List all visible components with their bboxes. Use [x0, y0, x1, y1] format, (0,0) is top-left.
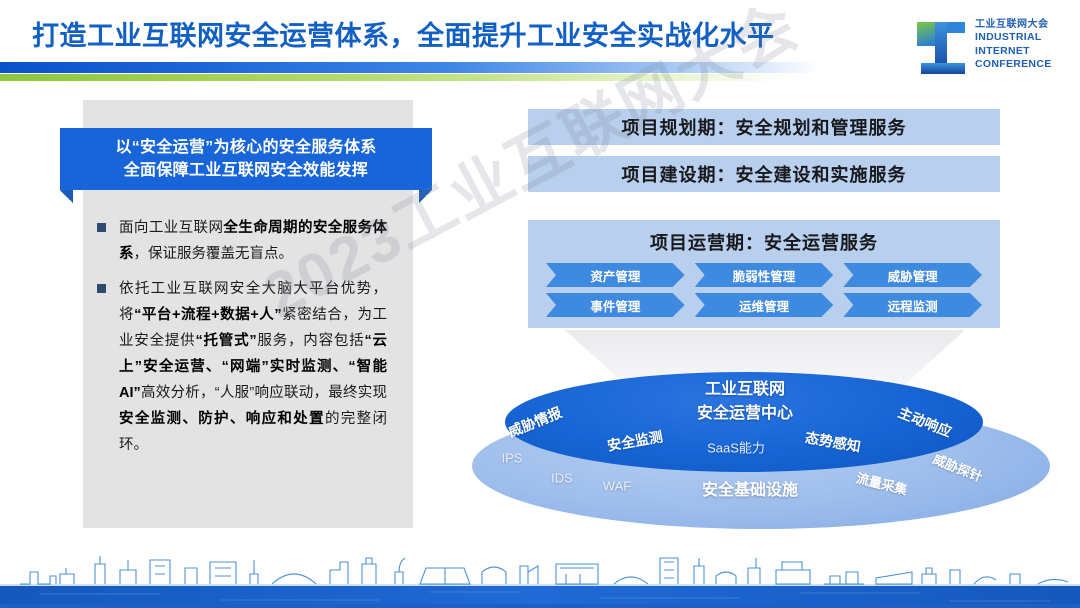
- callout-notch-left: [60, 190, 73, 203]
- tag-chevron[interactable]: 脆弱性管理: [695, 263, 834, 287]
- page-title: 打造工业互联网安全运营体系，全面提升工业安全实战化水平: [32, 14, 775, 53]
- phase-bar-construction: 项目建设期：安全建设和实施服务: [527, 155, 1001, 193]
- phase-bar-planning: 项目规划期：安全规划和管理服务: [527, 108, 1001, 146]
- tag-chevron[interactable]: 事件管理: [546, 293, 685, 317]
- footer-line: [0, 604, 1080, 608]
- tag-chevron[interactable]: 远程监测: [843, 293, 982, 317]
- bullet-square-icon: [97, 284, 106, 293]
- center-line-1: 工业互联网: [595, 378, 895, 402]
- callout-line-1: 以“安全运营”为核心的安全服务体系: [115, 136, 376, 159]
- callout-notch-right: [419, 190, 432, 203]
- divider-green: [0, 74, 790, 81]
- list-item: 依托工业互联网安全大脑大平台优势，将“平台+流程+数据+人”紧密结合，为工业安全…: [97, 276, 407, 458]
- bullet-text: 依托工业互联网安全大脑大平台优势，将“平台+流程+数据+人”紧密结合，为工业安全…: [119, 276, 387, 458]
- logo-en-line2: INTERNET: [975, 45, 1067, 59]
- orbit-label-base: IDS: [551, 471, 573, 486]
- bullet-text: 面向工业互联网全生命周期的安全服务体系，保证服务覆盖无盲点。: [119, 215, 387, 267]
- tag-chevron[interactable]: 资产管理: [546, 263, 685, 287]
- phase-bar-operation: 项目运营期：安全运营服务 资产管理 脆弱性管理 威胁管理 事件管理 运维管理 远…: [527, 219, 1001, 329]
- logo-mark-icon: [915, 20, 967, 76]
- infrastructure-label: 安全基础设施: [640, 476, 860, 500]
- callout-line-2: 全面保障工业互联网安全效能发挥: [124, 159, 369, 182]
- operation-tag-grid: 资产管理 脆弱性管理 威胁管理 事件管理 运维管理 远程监测: [528, 255, 1000, 317]
- center-line-2: 安全运营中心: [595, 402, 895, 426]
- bullet-square-icon: [97, 223, 106, 232]
- logo-text: 工业互联网大会 INDUSTRIAL INTERNET CONFERENCE: [975, 18, 1067, 72]
- tag-chevron[interactable]: 运维管理: [695, 293, 834, 317]
- slide: 打造工业互联网安全运营体系，全面提升工业安全实战化水平 工业互联网大会 INDU…: [0, 0, 1080, 608]
- orbit-label-base: WAF: [603, 479, 631, 494]
- operation-title: 项目运营期：安全运营服务: [528, 220, 1000, 255]
- bullet-list: 面向工业互联网全生命周期的安全服务体系，保证服务覆盖无盲点。 依托工业互联网安全…: [97, 215, 407, 467]
- list-item: 面向工业互联网全生命周期的安全服务体系，保证服务覆盖无盲点。: [97, 215, 407, 267]
- logo-en-line3: CONFERENCE: [975, 58, 1067, 72]
- callout-banner: 以“安全运营”为核心的安全服务体系 全面保障工业互联网安全效能发挥: [60, 128, 432, 190]
- city-skyline-decoration: [0, 522, 1080, 608]
- conference-logo: 工业互联网大会 INDUSTRIAL INTERNET CONFERENCE: [915, 18, 1065, 80]
- operation-center-label: 工业互联网 安全运营中心: [595, 378, 895, 426]
- orbit-label-base: IPS: [502, 451, 523, 466]
- tag-chevron[interactable]: 威胁管理: [843, 263, 982, 287]
- divider-blue: [0, 62, 820, 73]
- logo-cn-label: 工业互联网大会: [975, 18, 1067, 31]
- logo-en-line1: INDUSTRIAL: [975, 31, 1067, 45]
- orbit-label-top: SaaS能力: [707, 438, 765, 457]
